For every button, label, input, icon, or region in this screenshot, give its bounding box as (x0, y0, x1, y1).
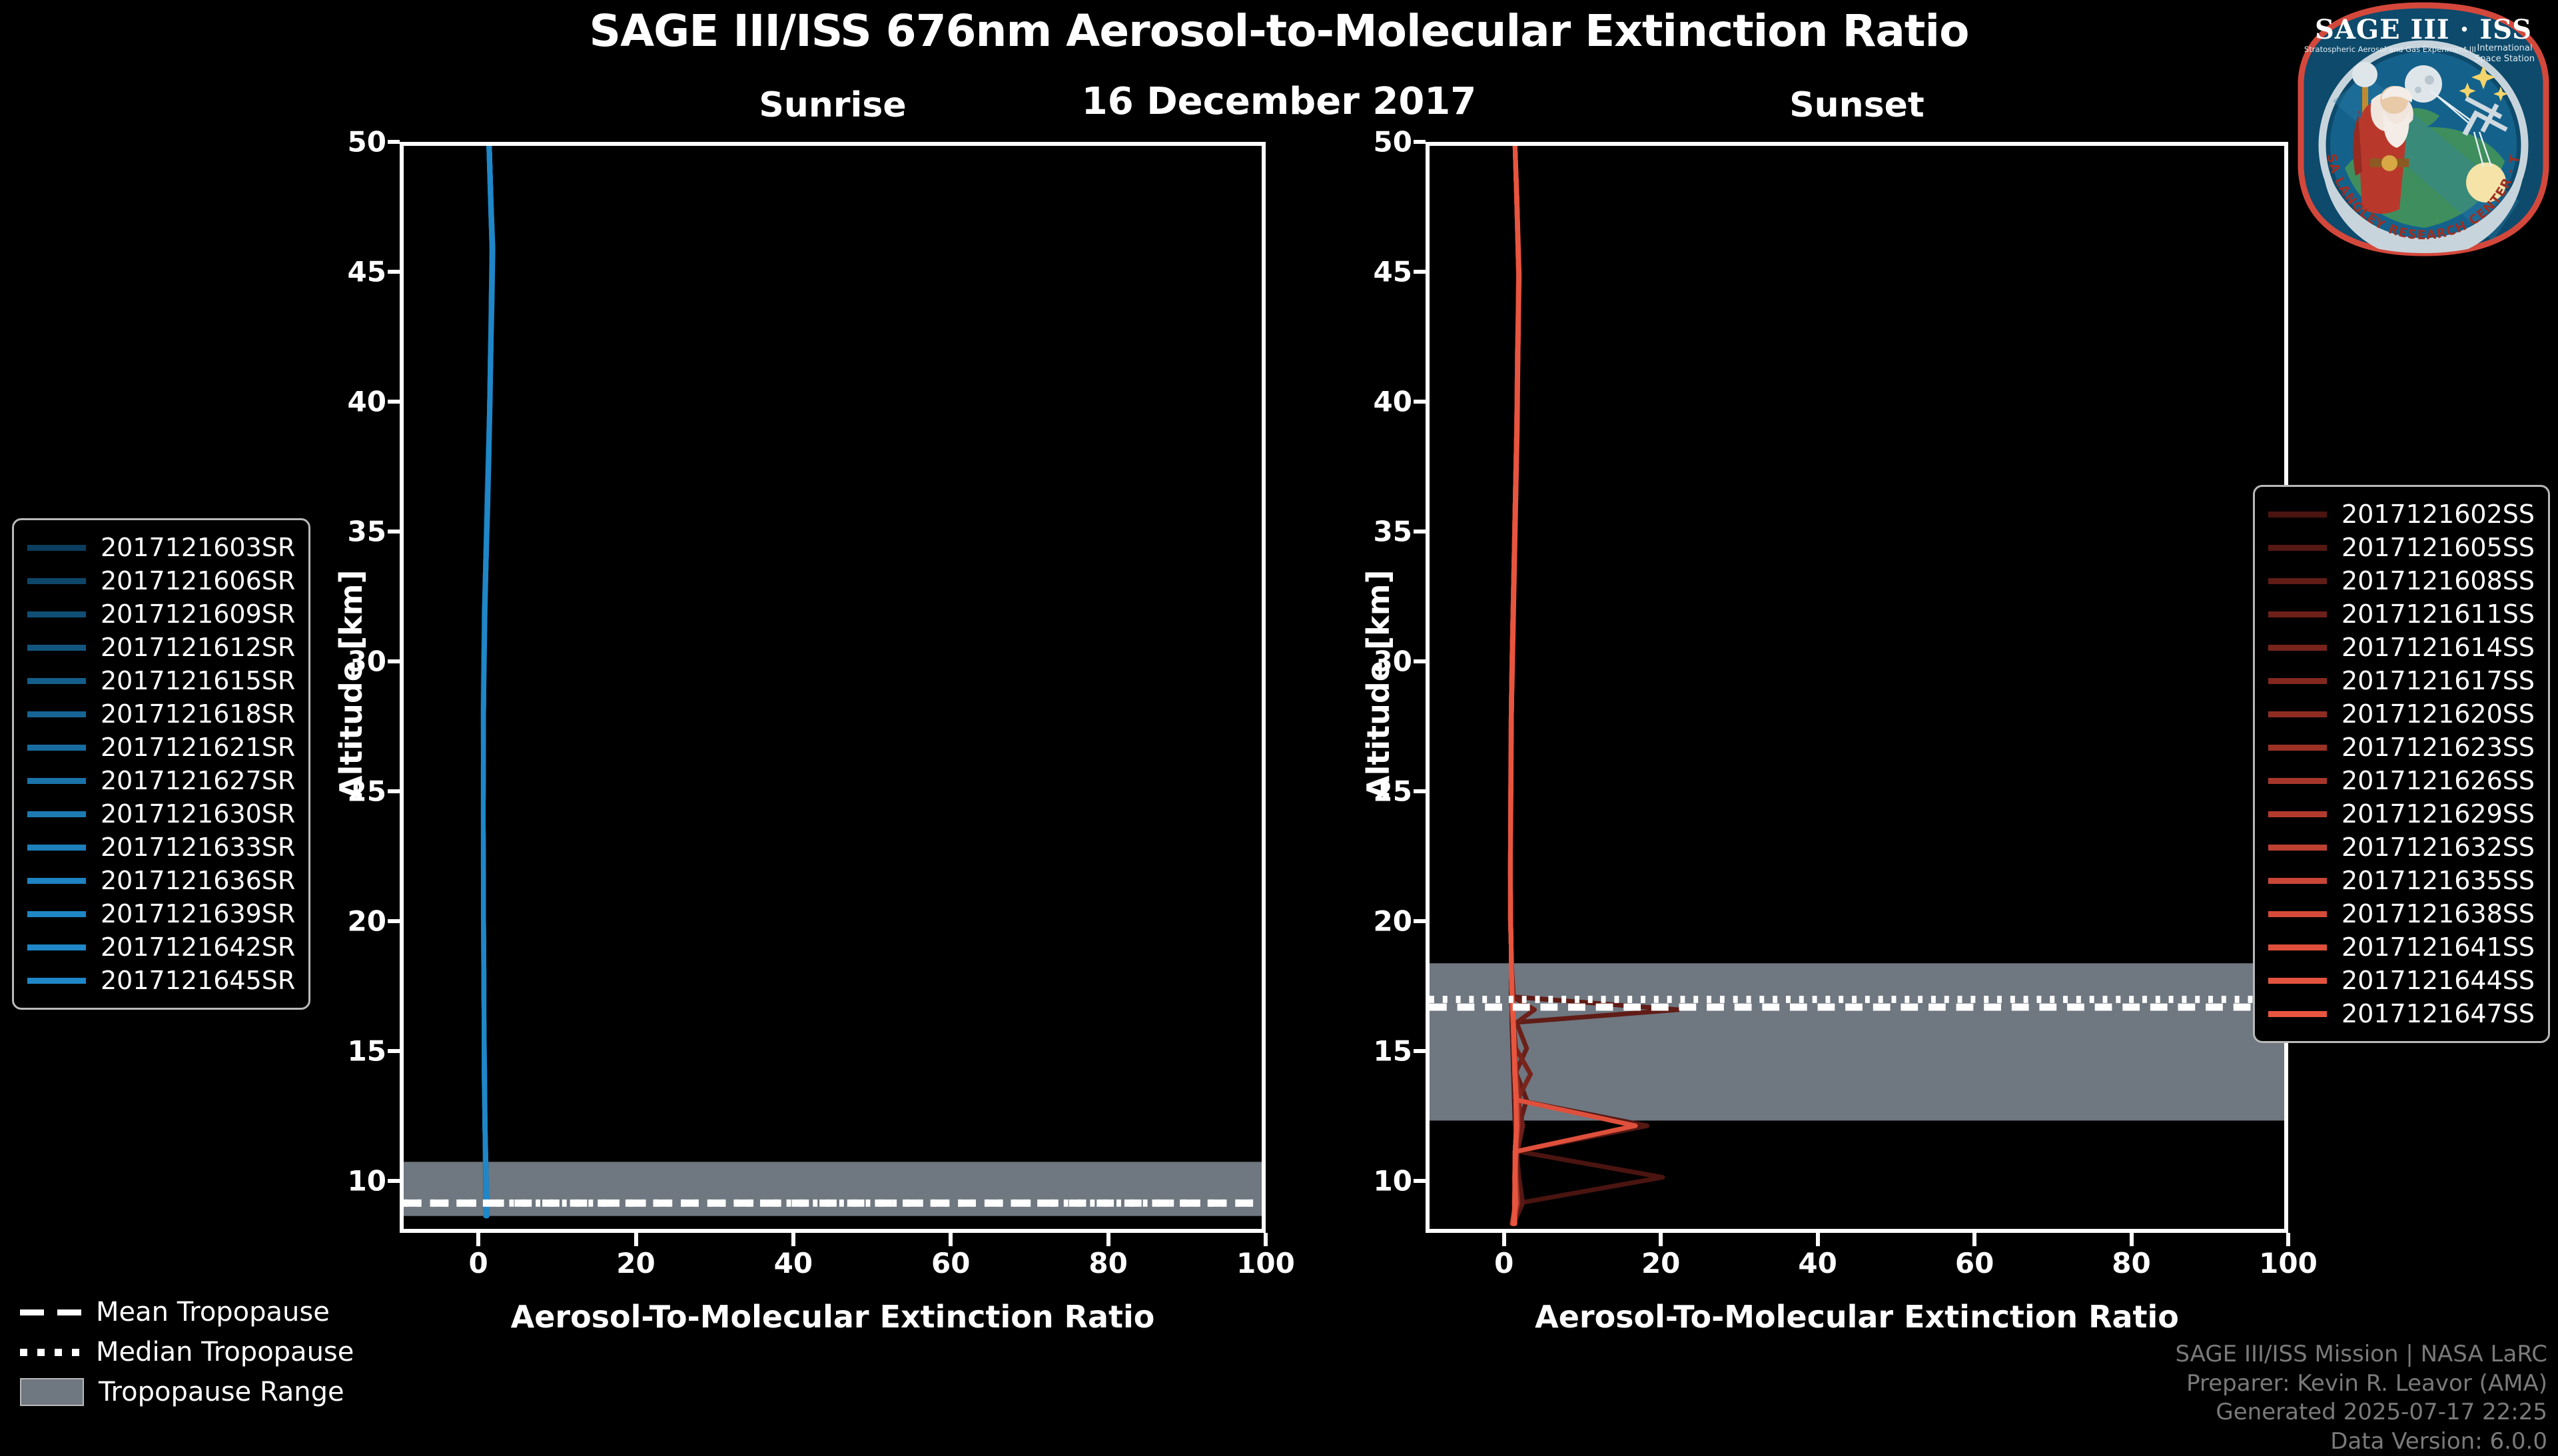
legend-item-sunset[interactable]: 2017121620SS (2268, 697, 2535, 731)
sunrise-y-tick: 20 (306, 905, 386, 938)
legend-label: 2017121617SS (2342, 666, 2535, 695)
data-series-line (483, 146, 493, 1216)
sunset-x-tick-mark (1502, 1233, 1506, 1246)
legend-label: 2017121629SS (2342, 799, 2535, 829)
legend-label: 2017121612SR (101, 633, 295, 662)
legend-label: 2017121615SR (101, 666, 295, 695)
legend-label: 2017121611SS (2342, 599, 2535, 629)
sunrise-y-tick-mark (388, 400, 400, 404)
sage-iii-iss-mission-patch-logo: SAGE III · ISS Stratospheric Aerosol and… (2293, 1, 2554, 257)
legend-label: 2017121621SR (101, 733, 295, 762)
legend-label: 2017121645SR (101, 966, 295, 995)
legend-label: 2017121606SR (101, 566, 295, 595)
legend-line-swatch-icon (2268, 512, 2327, 518)
legend-item-sunrise[interactable]: 2017121621SR (27, 731, 295, 764)
tropopause-range-band (1430, 963, 2284, 1120)
legend-label: 2017121620SS (2342, 699, 2535, 729)
legend-line-swatch-icon (2268, 978, 2327, 984)
legend-label: 2017121603SR (101, 533, 295, 562)
sunrise-y-tick-mark (388, 1049, 400, 1053)
legend-item-sunrise[interactable]: 2017121606SR (27, 564, 295, 597)
sunset-x-tick: 40 (1765, 1247, 1871, 1279)
legend-line-swatch-icon (27, 645, 86, 651)
legend-line-swatch-icon (2268, 878, 2327, 884)
legend-line-swatch-icon (2268, 745, 2327, 751)
sunset-panel-label: Sunset (1426, 85, 2288, 125)
sunrise-y-tick: 25 (306, 775, 386, 808)
sunset-y-tick: 45 (1332, 256, 1412, 288)
legend-item-sunset[interactable]: 2017121608SS (2268, 564, 2535, 597)
legend-line-swatch-icon (2268, 711, 2327, 717)
sunset-plot-panel (1426, 142, 2288, 1233)
legend-item-sunrise[interactable]: 2017121645SR (27, 964, 295, 997)
credits-line-data-version: Data Version: 6.0.0 (2175, 1427, 2547, 1456)
sunrise-x-tick: 20 (583, 1247, 689, 1279)
legend-line-swatch-icon (27, 811, 86, 817)
sunset-y-tick: 30 (1332, 645, 1412, 678)
legend-line-swatch-icon (2268, 778, 2327, 784)
sunrise-y-tick: 35 (306, 516, 386, 548)
legend-label-median-tropopause: Median Tropopause (96, 1337, 354, 1367)
sunrise-x-tick: 100 (1212, 1247, 1319, 1279)
sunset-y-tick-mark (1414, 1179, 1426, 1183)
legend-line-swatch-icon (2268, 578, 2327, 584)
sunrise-panel-label: Sunrise (400, 85, 1266, 125)
sunset-x-tick-mark (1816, 1233, 1820, 1246)
sunrise-y-tick: 50 (306, 126, 386, 159)
sunset-y-tick: 25 (1332, 775, 1412, 808)
filled-box-icon (20, 1378, 84, 1406)
sunrise-x-tick-mark (1106, 1233, 1110, 1246)
sunset-y-tick-mark (1414, 530, 1426, 534)
sunset-x-tick-mark (1659, 1233, 1663, 1246)
sunset-x-tick-mark (1972, 1233, 1976, 1246)
sunrise-x-tick: 40 (740, 1247, 847, 1279)
sunrise-y-tick: 45 (306, 256, 386, 288)
sunset-legend: 2017121602SS2017121605SS2017121608SS2017… (2253, 485, 2550, 1043)
legend-item-sunset[interactable]: 2017121629SS (2268, 797, 2535, 831)
sunset-y-tick-mark (1414, 659, 1426, 663)
sunset-x-tick: 80 (2078, 1247, 2185, 1279)
legend-item-sunrise[interactable]: 2017121603SR (27, 531, 295, 564)
legend-item-sunrise[interactable]: 2017121609SR (27, 597, 295, 631)
sunrise-y-tick-mark (388, 530, 400, 534)
legend-label: 2017121644SS (2342, 966, 2535, 995)
legend-item-sunrise[interactable]: 2017121612SR (27, 631, 295, 664)
legend-item-sunrise[interactable]: 2017121630SR (27, 797, 295, 831)
legend-line-swatch-icon (27, 678, 86, 684)
sunrise-y-tick-mark (388, 1179, 400, 1183)
sunrise-x-tick: 80 (1055, 1247, 1162, 1279)
sunset-x-tick: 60 (1921, 1247, 2028, 1279)
legend-item-sunrise[interactable]: 2017121636SR (27, 864, 295, 897)
legend-label: 2017121605SS (2342, 533, 2535, 562)
legend-label: 2017121635SS (2342, 866, 2535, 895)
tropopause-range-band (404, 1162, 1262, 1216)
legend-label: 2017121636SR (101, 866, 295, 895)
legend-label: 2017121627SR (101, 766, 295, 795)
sunset-x-tick: 100 (2235, 1247, 2342, 1279)
legend-item-mean-tropopause: Mean Tropopause (12, 1292, 354, 1332)
sunset-y-tick-mark (1414, 400, 1426, 404)
legend-line-swatch-icon (27, 878, 86, 884)
sunrise-x-tick-mark (476, 1233, 480, 1246)
logo-title: SAGE III · ISS (2315, 14, 2532, 45)
sunrise-y-tick: 15 (306, 1035, 386, 1068)
sunset-y-tick: 15 (1332, 1035, 1412, 1068)
sunset-plot-svg (1430, 146, 2284, 1229)
legend-item-sunrise[interactable]: 2017121642SR (27, 930, 295, 964)
legend-item-sunset[interactable]: 2017121605SS (2268, 531, 2535, 564)
legend-item-sunrise[interactable]: 2017121618SR (27, 697, 295, 731)
sunrise-y-tick-mark (388, 919, 400, 923)
sunset-y-tick-mark (1414, 270, 1426, 274)
legend-item-sunset[interactable]: 2017121635SS (2268, 864, 2535, 897)
legend-line-swatch-icon (27, 578, 86, 584)
dashed-line-icon (20, 1303, 81, 1321)
legend-line-swatch-icon (2268, 845, 2327, 851)
legend-label: 2017121639SR (101, 899, 295, 928)
sunrise-x-tick-mark (949, 1233, 953, 1246)
legend-label: 2017121602SS (2342, 500, 2535, 529)
tropopause-legend: Mean Tropopause Median Tropopause Tropop… (12, 1292, 354, 1412)
legend-line-swatch-icon (27, 944, 86, 950)
sunrise-x-tick-mark (791, 1233, 795, 1246)
legend-label: 2017121630SR (101, 799, 295, 829)
legend-line-swatch-icon (27, 611, 86, 617)
sunrise-x-tick: 0 (425, 1247, 532, 1279)
sunset-y-tick: 10 (1332, 1165, 1412, 1198)
legend-line-swatch-icon (2268, 545, 2327, 551)
sunrise-y-tick: 10 (306, 1165, 386, 1198)
sunset-x-tick-mark (2286, 1233, 2290, 1246)
legend-item-sunset[interactable]: 2017121641SS (2268, 930, 2535, 964)
sunset-y-tick: 35 (1332, 516, 1412, 548)
legend-label: 2017121608SS (2342, 566, 2535, 595)
legend-line-swatch-icon (2268, 645, 2327, 651)
sunrise-x-tick-mark (1264, 1233, 1268, 1246)
legend-item-sunset[interactable]: 2017121632SS (2268, 831, 2535, 864)
sunrise-plot-svg (404, 146, 1262, 1229)
legend-item-sunset[interactable]: 2017121644SS (2268, 964, 2535, 997)
legend-label: 2017121647SS (2342, 999, 2535, 1028)
legend-item-sunset[interactable]: 2017121623SS (2268, 731, 2535, 764)
legend-label: 2017121626SS (2342, 766, 2535, 795)
legend-label: 2017121633SR (101, 833, 295, 862)
legend-line-swatch-icon (27, 911, 86, 917)
legend-label: 2017121609SR (101, 599, 295, 629)
legend-line-swatch-icon (2268, 811, 2327, 817)
sunset-y-axis-label: Altitude [km] (1360, 569, 1396, 799)
legend-item-tropopause-range: Tropopause Range (12, 1372, 354, 1412)
legend-item-sunset[interactable]: 2017121614SS (2268, 631, 2535, 664)
legend-item-sunset[interactable]: 2017121638SS (2268, 897, 2535, 930)
sunset-y-tick-mark (1414, 140, 1426, 144)
legend-line-swatch-icon (2268, 678, 2327, 684)
legend-item-sunrise[interactable]: 2017121639SR (27, 897, 295, 930)
logo-subtitle-left: Stratospheric Aerosol and Gas Experiment… (2304, 45, 2476, 54)
page-title: SAGE III/ISS 676nm Aerosol-to-Molecular … (0, 5, 2558, 57)
legend-line-swatch-icon (27, 978, 86, 984)
legend-line-swatch-icon (27, 845, 86, 851)
legend-item-sunset[interactable]: 2017121647SS (2268, 997, 2535, 1030)
legend-label: 2017121642SR (101, 932, 295, 962)
sunset-x-tick: 20 (1607, 1247, 1714, 1279)
legend-line-swatch-icon (27, 545, 86, 551)
legend-item-sunset[interactable]: 2017121617SS (2268, 664, 2535, 697)
legend-label: 2017121614SS (2342, 633, 2535, 662)
legend-label: 2017121623SS (2342, 733, 2535, 762)
legend-item-median-tropopause: Median Tropopause (12, 1332, 354, 1372)
sunset-x-axis-label: Aerosol-To-Molecular Extinction Ratio (1426, 1299, 2288, 1335)
legend-label: 2017121632SS (2342, 833, 2535, 862)
legend-line-swatch-icon (2268, 911, 2327, 917)
sunrise-y-tick: 40 (306, 386, 386, 418)
sunrise-y-tick-mark (388, 659, 400, 663)
sunrise-y-axis-label: Altitude [km] (333, 569, 369, 799)
credits-line-generated: Generated 2025-07-17 22:25 (2175, 1398, 2547, 1427)
dotted-line-icon (20, 1349, 81, 1356)
sunrise-x-tick: 60 (897, 1247, 1004, 1279)
logo-subtitle-right-line1: International (2477, 43, 2533, 53)
legend-item-sunset[interactable]: 2017121611SS (2268, 597, 2535, 631)
legend-line-swatch-icon (27, 778, 86, 784)
sunset-x-tick-mark (2130, 1233, 2134, 1246)
legend-label: 2017121638SS (2342, 899, 2535, 928)
sunrise-y-tick-mark (388, 270, 400, 274)
sunset-y-tick: 50 (1332, 126, 1412, 159)
sunrise-y-tick-mark (388, 140, 400, 144)
legend-line-swatch-icon (27, 745, 86, 751)
sunrise-legend: 2017121603SR2017121606SR2017121609SR2017… (12, 518, 310, 1010)
legend-item-sunset[interactable]: 2017121626SS (2268, 764, 2535, 797)
legend-label: 2017121641SS (2342, 932, 2535, 962)
sunrise-x-axis-label: Aerosol-To-Molecular Extinction Ratio (400, 1299, 1266, 1335)
sunset-y-tick: 40 (1332, 386, 1412, 418)
legend-line-swatch-icon (27, 711, 86, 717)
legend-line-swatch-icon (2268, 611, 2327, 617)
credits-line-mission: SAGE III/ISS Mission | NASA LaRC (2175, 1340, 2547, 1369)
legend-line-swatch-icon (2268, 944, 2327, 950)
sunset-y-tick-mark (1414, 789, 1426, 793)
sunset-y-tick-mark (1414, 1049, 1426, 1053)
legend-item-sunrise[interactable]: 2017121615SR (27, 664, 295, 697)
mission-patch-svg: SAGE III · ISS Stratospheric Aerosol and… (2293, 1, 2554, 257)
sunrise-plot-panel (400, 142, 1266, 1233)
legend-item-sunrise[interactable]: 2017121627SR (27, 764, 295, 797)
sunrise-y-tick: 30 (306, 645, 386, 678)
sunrise-x-tick-mark (634, 1233, 638, 1246)
sunset-y-tick: 20 (1332, 905, 1412, 938)
legend-item-sunrise[interactable]: 2017121633SR (27, 831, 295, 864)
sunset-x-tick: 0 (1451, 1247, 1557, 1279)
legend-label: 2017121618SR (101, 699, 295, 729)
sunrise-y-tick-mark (388, 789, 400, 793)
legend-label-tropopause-range: Tropopause Range (99, 1377, 344, 1407)
logo-subtitle-right-line2: Space Station (2475, 54, 2535, 64)
legend-line-swatch-icon (2268, 1011, 2327, 1017)
legend-label-mean-tropopause: Mean Tropopause (96, 1297, 330, 1327)
credits-line-preparer: Preparer: Kevin R. Leavor (AMA) (2175, 1369, 2547, 1399)
sunset-y-tick-mark (1414, 919, 1426, 923)
legend-item-sunset[interactable]: 2017121602SS (2268, 498, 2535, 531)
